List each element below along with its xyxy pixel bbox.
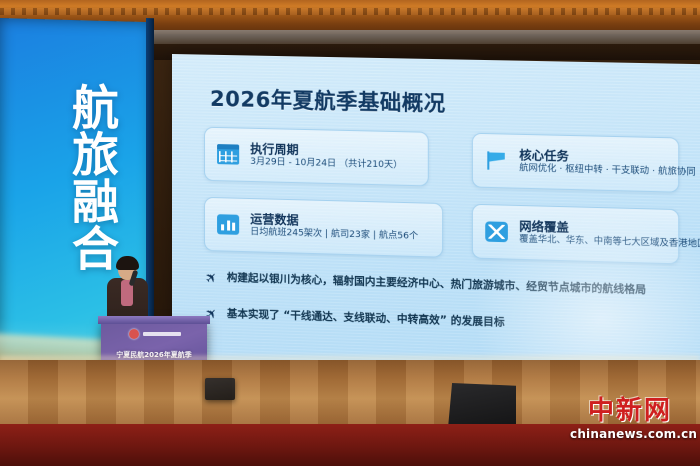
card-title-network-coverage: 网络覆盖 [519, 220, 665, 236]
card-subtitle-network-coverage: 覆盖华北、华东、中南等七大区域及香港地区 [519, 235, 665, 249]
stage-monitor-speaker [448, 383, 516, 428]
card-subtitle-execution-period: 3月29日 - 10月24日 （共计210天） [250, 157, 402, 171]
led-banner-vertical-text: 航旅融合 [42, 52, 114, 302]
slide-bullet-2: ✈ 基本实现了 “干线通达、支线联动、中转高效” 的发展目标 [206, 307, 505, 330]
bar-chart-icon [217, 214, 239, 235]
slide-title: 2026年夏航季基础概况 [210, 83, 446, 118]
podium-logo [129, 328, 181, 339]
card-network-coverage: 网络覆盖 覆盖华北、华东、中南等七大区域及香港地区 [472, 204, 679, 265]
card-subtitle-core-tasks: 航网优化 · 枢纽中转 · 干支联动 · 航旅协同 [519, 164, 665, 178]
card-title-operating-data: 运营数据 [250, 213, 418, 230]
speaker-hair [116, 256, 139, 270]
emblem-icon [129, 329, 139, 339]
stage-monitor-small [205, 378, 235, 400]
card-title-core-tasks: 核心任务 [519, 149, 665, 165]
watermark: 中新网 chinanews.com.cn [570, 398, 690, 441]
podium-logo-wordmark [143, 332, 181, 336]
flag-icon [485, 150, 508, 171]
watermark-url: chinanews.com.cn [570, 427, 690, 441]
card-title-execution-period: 执行周期 [250, 142, 402, 158]
slide-bullet-1: ✈ 构建起以银川为核心，辐射国内主要经济中心、热门旅游城市、经贸节点城市的航线格… [206, 271, 646, 298]
podium-top-edge [98, 316, 210, 324]
card-subtitle-operating-data: 日均航班245架次 | 航司23家 | 航点56个 [250, 228, 418, 243]
press-conference-photo: 航旅融合 2026年夏航季基础概况 执行周期 3月29日 - 10月24日 （共… [0, 0, 700, 466]
slide-bullet-1-text: 构建起以银川为核心，辐射国内主要经济中心、热门旅游城市、经贸节点城市的航线格局 [227, 272, 646, 297]
card-execution-period: 执行周期 3月29日 - 10月24日 （共计210天） [204, 127, 429, 187]
calendar-icon [217, 144, 239, 165]
projection-screen: 2026年夏航季基础概况 执行周期 3月29日 - 10月24日 （共计210天… [172, 54, 700, 394]
watermark-logo-text: 中新网 [570, 398, 690, 424]
network-icon [485, 221, 508, 242]
airplane-icon: ✈ [203, 269, 221, 287]
slide-bullet-2-text: 基本实现了 “干线通达、支线联动、中转高效” 的发展目标 [227, 308, 505, 329]
card-core-tasks: 核心任务 航网优化 · 枢纽中转 · 干支联动 · 航旅协同 [472, 133, 679, 193]
card-operating-data: 运营数据 日均航班245架次 | 航司23家 | 航点56个 [204, 197, 443, 258]
